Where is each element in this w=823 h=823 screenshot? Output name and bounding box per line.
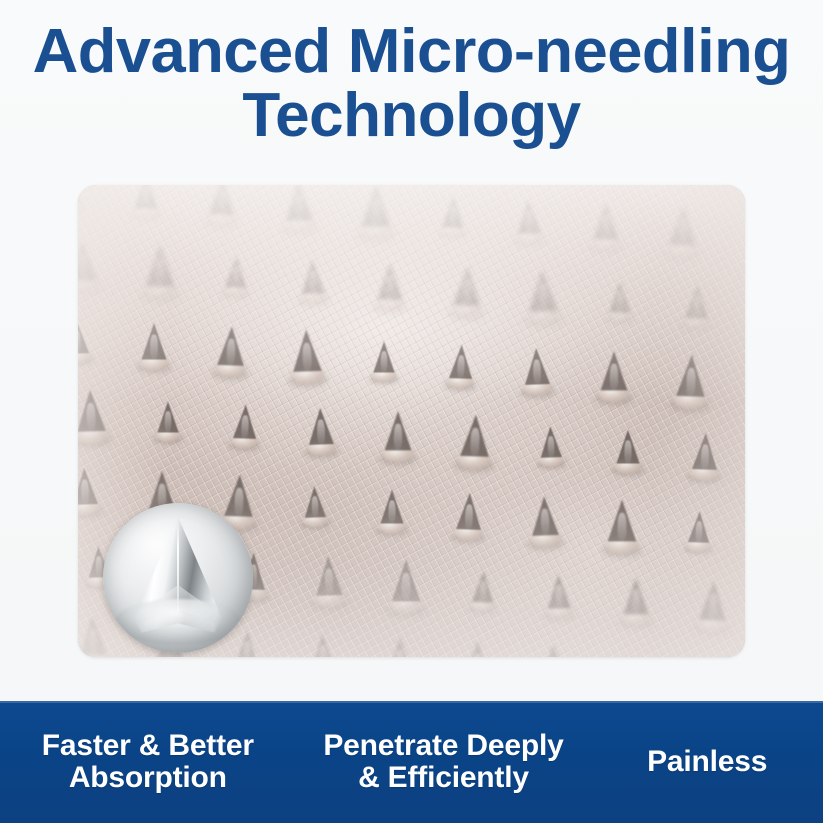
needle-point xyxy=(225,256,247,288)
needle-tip xyxy=(603,499,640,552)
page-title: Advanced Micro-needling Technology xyxy=(0,22,823,146)
needle-tip xyxy=(681,284,713,328)
needle-tip xyxy=(78,615,112,657)
needle-tip xyxy=(458,640,495,657)
needle-point xyxy=(78,467,98,504)
needle-point xyxy=(624,578,649,614)
needle-point xyxy=(224,474,254,517)
needle-point xyxy=(157,401,178,432)
needle-tip xyxy=(445,344,477,388)
needle-point xyxy=(538,644,568,657)
needle-point xyxy=(78,389,106,432)
needle-tip xyxy=(455,414,494,468)
needle-point xyxy=(531,495,559,535)
needle-point xyxy=(547,574,571,609)
needle-tip xyxy=(308,634,340,657)
needle-point xyxy=(540,426,562,458)
needle-point xyxy=(609,281,630,312)
title-line-1: Advanced Micro-needling xyxy=(0,22,823,82)
needle-tip xyxy=(141,245,178,298)
title-line-2: Technology xyxy=(0,86,823,146)
needle-point xyxy=(676,354,706,397)
needle-point xyxy=(308,407,334,444)
needle-point xyxy=(285,185,313,221)
needle-tip xyxy=(212,326,249,377)
needle-point xyxy=(373,341,394,372)
needle-point xyxy=(217,326,245,366)
needle-tip xyxy=(448,266,485,317)
needle-tip xyxy=(78,319,93,363)
needle-point xyxy=(134,185,157,208)
needle-tip xyxy=(232,630,261,657)
needle-point xyxy=(233,404,257,439)
needle-tip xyxy=(78,389,111,443)
needle-point xyxy=(453,266,481,306)
needle-tip xyxy=(537,426,566,466)
needle-tip xyxy=(281,185,318,231)
needle-point xyxy=(441,196,463,228)
needle-tip xyxy=(229,404,261,448)
needle-point xyxy=(463,640,491,657)
needle-tip xyxy=(613,429,643,472)
needle-tip xyxy=(78,185,84,211)
needle-tip xyxy=(154,401,182,440)
needle-tip xyxy=(304,407,338,454)
single-needle-inset xyxy=(103,503,253,653)
needle-point xyxy=(524,347,550,384)
needle-point xyxy=(315,555,343,595)
needle-tip xyxy=(597,351,632,400)
needle-tip xyxy=(78,241,101,292)
needle-tip xyxy=(380,411,415,460)
needle-point xyxy=(593,203,618,239)
needle-point xyxy=(362,185,391,226)
needle-tip xyxy=(377,489,407,532)
needle-point xyxy=(145,245,174,287)
needle-tip xyxy=(524,269,563,323)
needle-tip xyxy=(684,511,713,551)
needle-tip xyxy=(301,486,330,526)
needle-point xyxy=(608,499,637,541)
needle-tip xyxy=(513,199,545,243)
needle-tip xyxy=(387,559,424,612)
needle-tip xyxy=(205,185,239,225)
benefit-item-absorption: Faster & Better Absorption xyxy=(0,730,296,795)
needle-tip xyxy=(520,347,554,394)
needle-point xyxy=(380,489,403,523)
needle-tip xyxy=(590,203,623,249)
needle-point xyxy=(209,185,235,215)
needle-tip xyxy=(664,206,701,257)
needle-point xyxy=(236,630,258,657)
needle-point xyxy=(78,241,97,281)
needle-point xyxy=(601,351,628,390)
needle-point xyxy=(460,414,490,457)
needle-tip xyxy=(311,555,348,606)
needle-tip xyxy=(468,570,497,610)
needle-point xyxy=(377,263,402,299)
needle-point xyxy=(141,323,166,359)
needle-tip xyxy=(374,263,407,309)
needle-tip xyxy=(606,281,634,320)
benefit-banner: Faster & Better Absorption Penetrate Dee… xyxy=(0,701,823,823)
needle-point xyxy=(617,429,640,463)
needle-point xyxy=(669,206,697,246)
needle-point xyxy=(517,199,541,234)
needle-point xyxy=(311,634,335,657)
microneedle-array-photo xyxy=(78,185,745,657)
needle-tip xyxy=(384,637,417,657)
needle-tip xyxy=(671,354,710,408)
needle-point xyxy=(692,432,718,469)
needle-tip xyxy=(288,329,327,383)
needle-point xyxy=(292,329,322,372)
needle-tip xyxy=(616,656,644,657)
needle-point xyxy=(385,411,412,450)
needle-tip xyxy=(544,574,576,618)
needle-point xyxy=(301,259,325,294)
needle-tip xyxy=(370,341,398,380)
needle-tip xyxy=(438,196,467,236)
needle-point xyxy=(456,492,482,529)
needle-point xyxy=(78,319,89,354)
needle-inset-rim xyxy=(103,503,253,653)
needle-point xyxy=(304,486,326,518)
needle-tip xyxy=(452,492,486,539)
product-feature-card: Advanced Micro-needling Technology Faste… xyxy=(0,0,823,823)
needle-point xyxy=(449,344,473,379)
needle-tip xyxy=(695,580,732,631)
benefit-item-penetration: Penetrate Deeply & Efficiently xyxy=(296,730,592,795)
needle-point xyxy=(78,185,80,203)
needle-point xyxy=(79,615,107,655)
benefit-item-painless: Painless xyxy=(591,746,823,778)
needle-point xyxy=(699,580,727,620)
needle-point xyxy=(688,511,710,543)
needle-tip xyxy=(137,323,170,369)
needle-point xyxy=(528,269,558,312)
needle-point xyxy=(620,656,641,657)
needle-tip xyxy=(78,467,102,514)
needle-tip xyxy=(222,256,251,296)
needle-tip xyxy=(534,643,573,657)
needle-tip xyxy=(357,185,394,237)
needle-tip xyxy=(688,432,722,479)
needle-point xyxy=(388,637,413,657)
needle-point xyxy=(392,559,421,601)
needle-tip xyxy=(527,495,564,546)
needle-point xyxy=(472,571,494,603)
needle-tip xyxy=(297,259,329,303)
needle-tip xyxy=(131,185,161,217)
needle-tip xyxy=(620,578,653,624)
needle-point xyxy=(685,284,709,319)
